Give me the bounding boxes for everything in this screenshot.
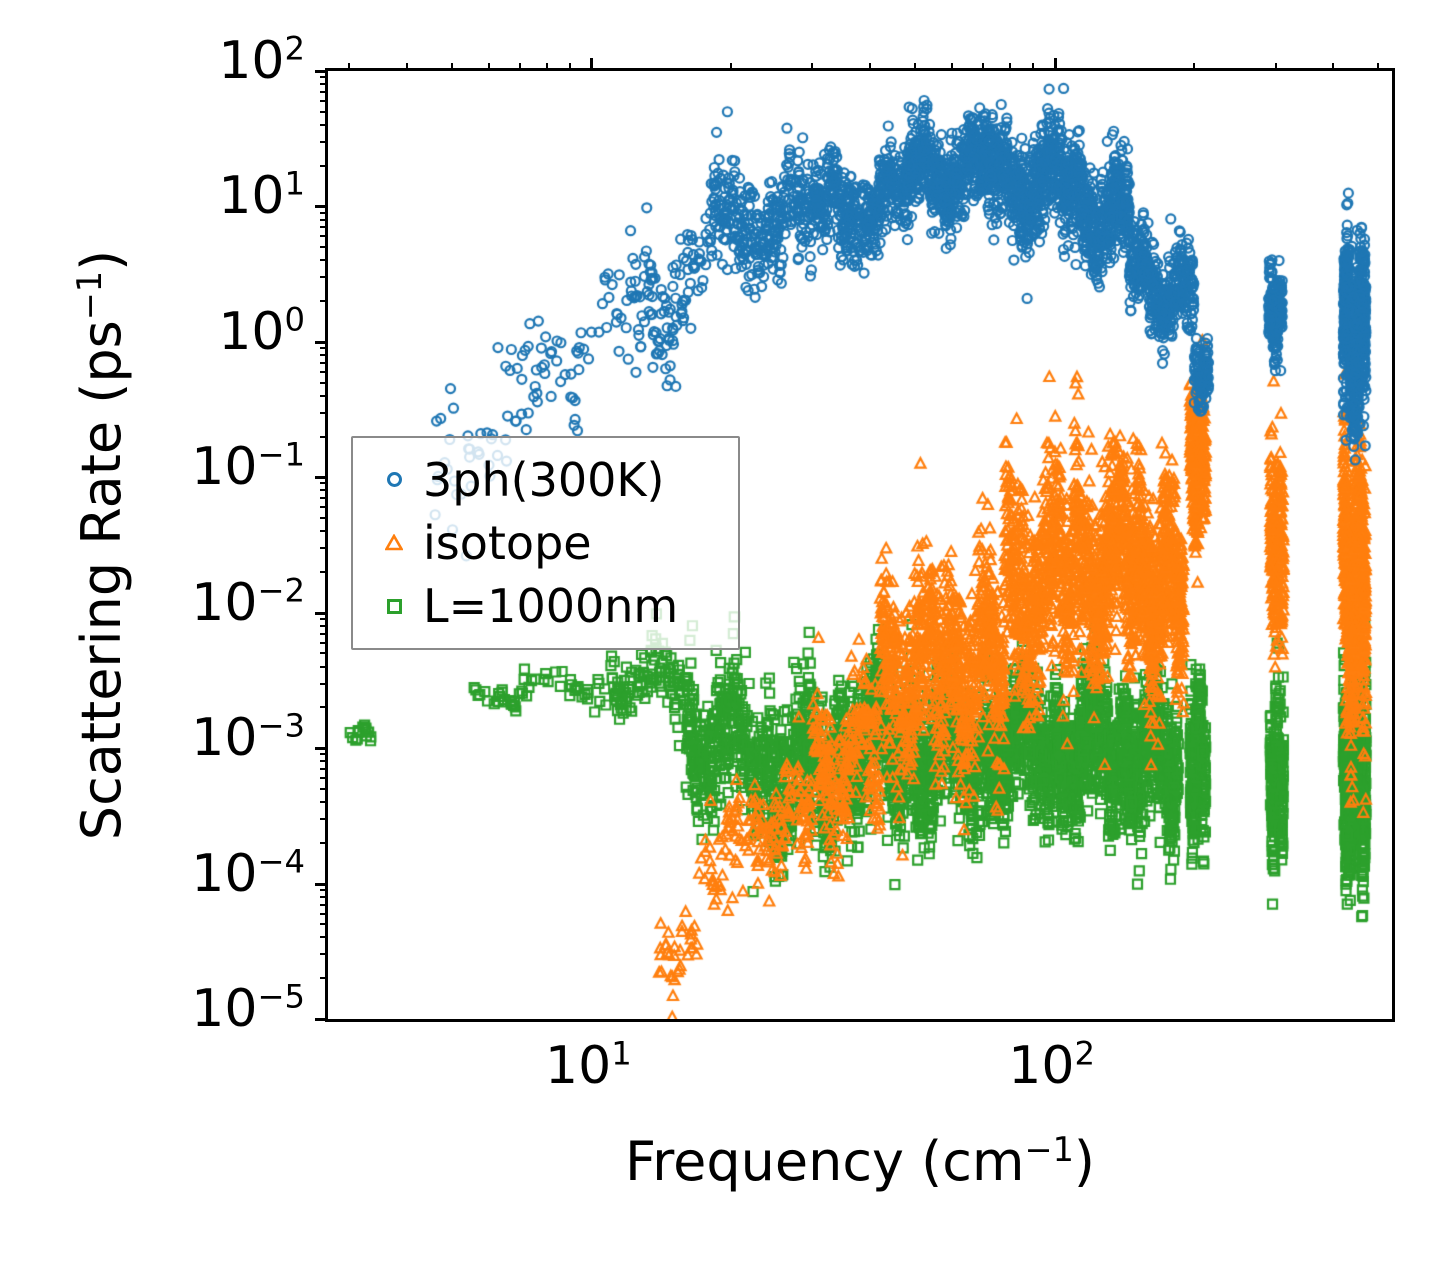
y-axis-tick (320, 633, 328, 635)
y-tick-label: 100 (218, 306, 305, 358)
y-axis-tick (320, 395, 328, 397)
y-axis-tick (320, 371, 328, 373)
y-axis-tick (320, 276, 328, 278)
x-axis-title-exponent: −1 (1025, 1130, 1074, 1169)
y-axis-tick (320, 506, 328, 508)
y-tick-label: 102 (218, 35, 305, 87)
y-axis-tick (320, 642, 328, 644)
y-axis-tick (320, 923, 328, 925)
circle-marker-icon (365, 472, 423, 487)
x-axis-tick (869, 63, 871, 71)
x-axis-tick (406, 63, 408, 71)
y-axis-tick (320, 753, 328, 755)
legend-item-triangle[interactable]: isotope (353, 515, 738, 571)
y-axis-tick (320, 489, 328, 491)
y-axis-tick (320, 953, 328, 955)
x-axis-tick (914, 63, 916, 71)
x-axis-title-tail: ) (1074, 1130, 1095, 1193)
y-axis-tick (320, 666, 328, 668)
scatter-plot-figure: 10210110010−110−210−310−410−5101102 Freq… (0, 0, 1455, 1273)
y-axis-tick (320, 801, 328, 803)
y-axis-tick (320, 652, 328, 654)
x-axis-tick (519, 63, 521, 71)
y-tick-label: 10−3 (191, 712, 305, 764)
y-axis-tick (320, 768, 328, 770)
y-axis-title-tail: ) (70, 250, 133, 271)
y-axis-tick (320, 497, 328, 499)
y-axis-tick (320, 936, 328, 938)
x-axis-title-base: Frequency (cm (625, 1130, 1025, 1193)
x-axis-tick (451, 63, 453, 71)
y-axis-tick (320, 226, 328, 228)
y-axis-tick (320, 141, 328, 143)
y-axis-tick (320, 412, 328, 414)
y-axis-tick (320, 842, 328, 844)
y-axis-tick (320, 83, 328, 85)
circle-glyph (387, 472, 402, 487)
y-axis-tick (320, 259, 328, 261)
y-axis-tick (320, 235, 328, 237)
y-axis-tick (320, 212, 328, 214)
legend-label: isotope (423, 520, 592, 566)
y-axis-tick (315, 341, 328, 344)
y-axis-tick (320, 977, 328, 979)
y-axis-tick (315, 205, 328, 208)
triangle-glyph (385, 534, 403, 551)
chart-legend[interactable]: 3ph(300K)isotopeL=1000nm (351, 436, 740, 650)
square-marker-icon (365, 599, 423, 614)
y-axis-title-base: Scattering Rate (ps (70, 320, 133, 840)
x-tick-label: 101 (498, 1040, 678, 1092)
y-axis-tick (315, 883, 328, 886)
y-axis-tick (320, 913, 328, 915)
y-axis-tick (320, 76, 328, 78)
x-axis-tick (569, 63, 571, 71)
y-axis-tick (320, 517, 328, 519)
y-axis-tick (320, 904, 328, 906)
y-tick-label: 10−2 (191, 577, 305, 629)
y-axis-tick (320, 760, 328, 762)
y-axis-tick (320, 100, 328, 102)
x-axis-title: Frequency (cm−1) (325, 1130, 1395, 1193)
y-axis-title-exponent: −1 (70, 271, 109, 320)
x-axis-tick (1377, 63, 1379, 71)
y-axis-tick (320, 362, 328, 364)
y-axis-tick (320, 618, 328, 620)
y-axis-tick (320, 818, 328, 820)
legend-item-square[interactable]: L=1000nm (353, 578, 738, 634)
x-axis-tick (488, 63, 490, 71)
x-axis-tick (1193, 63, 1195, 71)
x-axis-tick (1332, 63, 1334, 71)
y-tick-label: 10−1 (191, 441, 305, 493)
y-axis-tick (320, 165, 328, 167)
x-axis-tick (811, 63, 813, 71)
y-axis-tick (320, 124, 328, 126)
y-axis-tick (320, 111, 328, 113)
square-glyph (387, 599, 402, 614)
y-axis-tick (320, 706, 328, 708)
x-axis-tick (546, 63, 548, 71)
x-axis-tick (951, 63, 953, 71)
y-axis-tick (320, 354, 328, 356)
x-axis-tick (1054, 58, 1057, 71)
x-axis-tick (730, 63, 732, 71)
y-axis-tick (315, 70, 328, 73)
x-axis-tick (1275, 63, 1277, 71)
x-tick-label: 102 (962, 1040, 1142, 1092)
y-tick-label: 101 (218, 170, 305, 222)
y-axis-title: Scattering Rate (ps−1) (70, 68, 140, 1022)
y-axis-tick (320, 571, 328, 573)
triangle-marker-icon (365, 534, 423, 551)
y-axis-tick (320, 382, 328, 384)
legend-label: L=1000nm (423, 583, 678, 629)
y-axis-tick (315, 747, 328, 750)
y-axis-tick (320, 347, 328, 349)
x-axis-tick (590, 58, 593, 71)
y-tick-label: 10−5 (191, 983, 305, 1035)
y-axis-tick (320, 788, 328, 790)
y-axis-tick (320, 625, 328, 627)
y-tick-label: 10−4 (191, 848, 305, 900)
y-axis-tick (320, 777, 328, 779)
x-axis-tick (348, 63, 350, 71)
x-axis-tick (982, 63, 984, 71)
y-axis-tick (320, 91, 328, 93)
legend-label: 3ph(300K) (423, 457, 664, 503)
y-axis-tick (320, 530, 328, 532)
y-axis-tick (320, 683, 328, 685)
x-axis-tick (1032, 63, 1034, 71)
y-axis-tick (320, 246, 328, 248)
y-axis-tick (315, 476, 328, 479)
y-axis-tick (320, 896, 328, 898)
y-axis-tick (320, 219, 328, 221)
legend-item-circle[interactable]: 3ph(300K) (353, 452, 738, 508)
y-axis-tick (315, 612, 328, 615)
y-axis-tick (320, 547, 328, 549)
y-axis-tick (320, 300, 328, 302)
y-axis-tick (320, 889, 328, 891)
y-axis-tick (315, 1018, 328, 1021)
y-axis-tick (320, 436, 328, 438)
x-axis-tick (1009, 63, 1011, 71)
y-axis-tick (320, 482, 328, 484)
